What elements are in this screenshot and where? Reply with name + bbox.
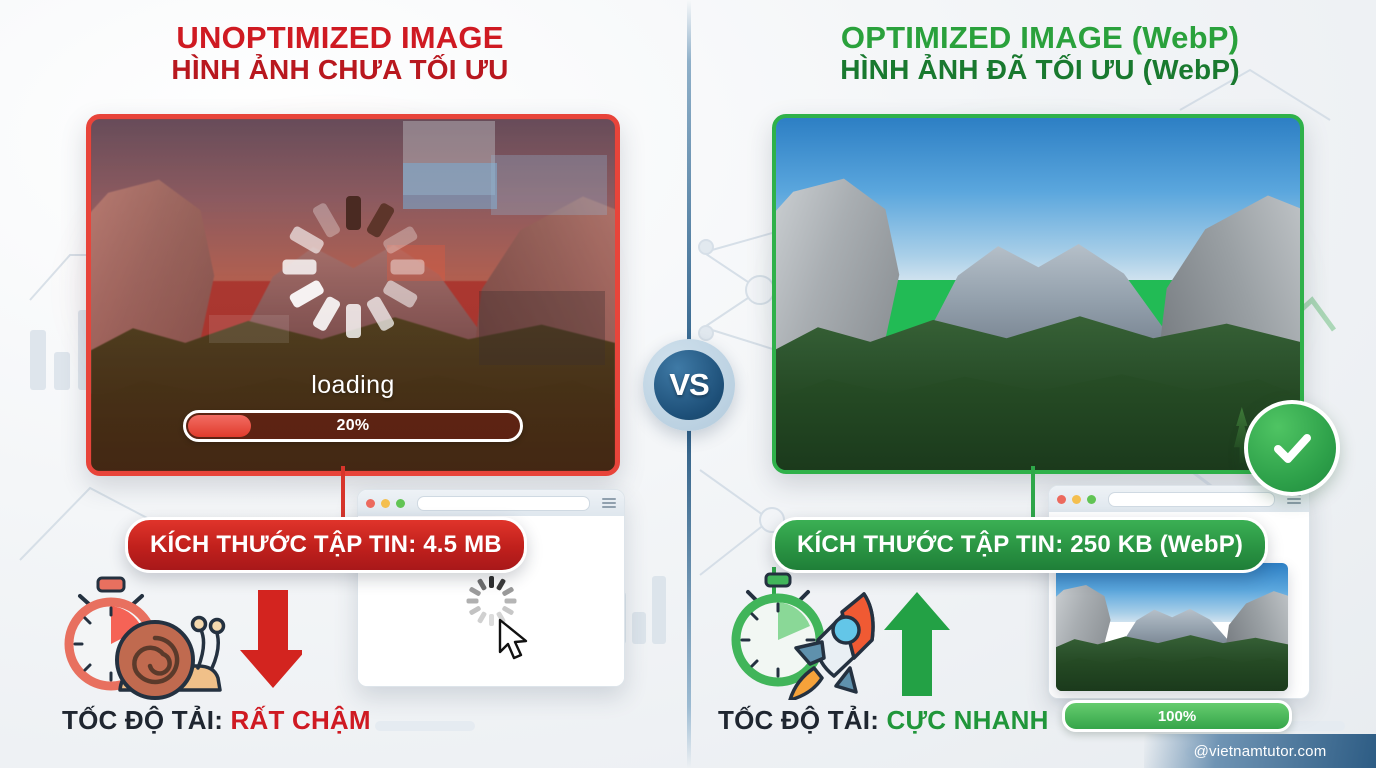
- traffic-light-red-icon: [1057, 495, 1066, 504]
- right-file-size-badge: KÍCH THƯỚC TẬP TIN: 250 KB (WebP): [772, 517, 1268, 573]
- right-headline-en: OPTIMIZED IMAGE (WebP): [740, 22, 1340, 55]
- loaded-photo-thumbnail: [1056, 563, 1288, 691]
- left-progress-bar: 20%: [183, 410, 523, 442]
- traffic-light-red-icon: [366, 499, 375, 508]
- left-headline-en: UNOPTIMIZED IMAGE: [40, 22, 640, 55]
- optimized-image-frame: [772, 114, 1304, 474]
- glitch-block: [479, 291, 605, 365]
- left-progress-label: 20%: [186, 413, 520, 439]
- stopwatch-icon: [736, 574, 820, 682]
- right-progress-bar: 100%: [1062, 700, 1292, 732]
- loading-label: loading: [91, 371, 615, 400]
- traffic-light-green-icon: [1087, 495, 1096, 504]
- infographic-canvas: UNOPTIMIZED IMAGE HÌNH ẢNH CHƯA TỐI ƯU O…: [0, 0, 1376, 768]
- vs-badge: VS: [643, 339, 735, 431]
- address-bar[interactable]: [417, 496, 590, 511]
- left-speed-caption: TỐC ĐỘ TẢI: RẤT CHẬM: [62, 705, 371, 736]
- right-speed-value: CỰC NHANH: [887, 705, 1049, 735]
- hamburger-menu-icon[interactable]: [602, 498, 616, 508]
- right-headline: OPTIMIZED IMAGE (WebP) HÌNH ẢNH ĐÃ TỐI Ư…: [740, 22, 1340, 85]
- left-speed-value: RẤT CHẬM: [231, 705, 371, 735]
- address-bar[interactable]: [1108, 492, 1275, 507]
- mouse-cursor-icon: [498, 618, 532, 662]
- optimized-photo: [776, 118, 1300, 470]
- arrow-down-icon: [240, 590, 302, 688]
- snail-icon: [117, 618, 224, 699]
- glitch-block: [491, 155, 607, 215]
- left-headline-vi: HÌNH ẢNH CHƯA TỐI ƯU: [40, 55, 640, 85]
- unoptimized-image-frame: loading 20%: [86, 114, 620, 476]
- traffic-light-yellow-icon: [381, 499, 390, 508]
- right-headline-vi: HÌNH ẢNH ĐÃ TỐI ƯU (WebP): [740, 55, 1340, 85]
- fast-speed-icon-group: [718, 568, 958, 705]
- glitch-block: [209, 315, 289, 343]
- arrow-up-icon: [884, 592, 950, 696]
- right-speed-caption: TỐC ĐỘ TẢI: CỰC NHANH: [718, 705, 1049, 736]
- right-speed-key: TỐC ĐỘ TẢI:: [718, 705, 879, 735]
- browser-titlebar: [358, 490, 624, 517]
- traffic-light-green-icon: [396, 499, 405, 508]
- right-progress-label: 100%: [1065, 703, 1289, 729]
- left-file-size-badge: KÍCH THƯỚC TẬP TIN: 4.5 MB: [125, 517, 527, 573]
- traffic-light-yellow-icon: [1072, 495, 1081, 504]
- loading-spinner-icon: [278, 192, 428, 342]
- left-connector: [341, 466, 345, 524]
- check-circle-icon: [1244, 400, 1340, 496]
- left-headline: UNOPTIMIZED IMAGE HÌNH ẢNH CHƯA TỐI ƯU: [40, 22, 640, 85]
- right-connector: [1031, 466, 1035, 524]
- vs-label: VS: [654, 350, 724, 420]
- watermark: @vietnamtutor.com: [1144, 734, 1376, 768]
- left-speed-key: TỐC ĐỘ TẢI:: [62, 705, 223, 735]
- slow-speed-icon-group: [62, 572, 302, 707]
